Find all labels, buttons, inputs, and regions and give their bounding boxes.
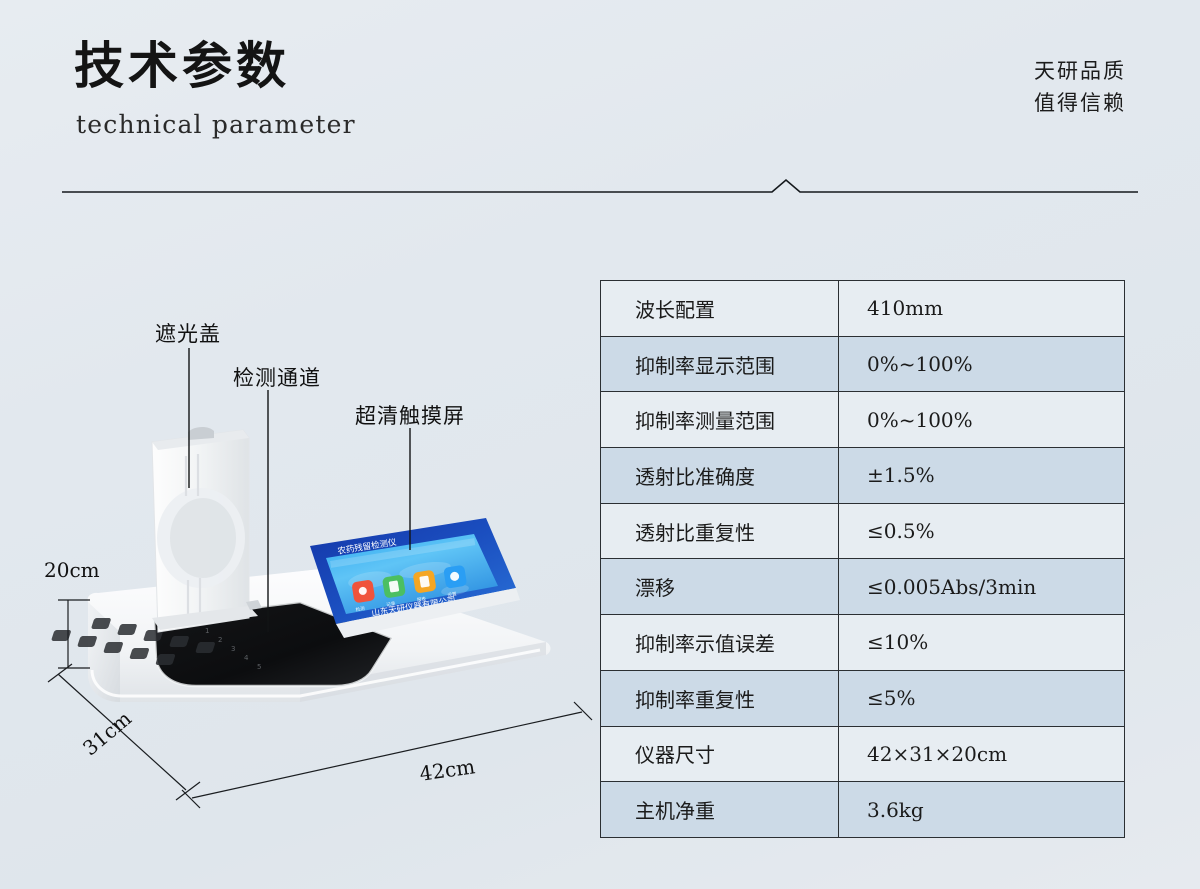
svg-text:1: 1 bbox=[205, 627, 209, 635]
spec-name-cell: 透射比准确度 bbox=[601, 448, 839, 504]
table-row: 漂移≤0.005Abs/3min bbox=[601, 559, 1125, 615]
table-row: 抑制率重复性≤5% bbox=[601, 670, 1125, 726]
spec-name-cell: 主机净重 bbox=[601, 782, 839, 838]
brand-slogan-line2: 值得信赖 bbox=[1034, 88, 1126, 120]
dim-width-line bbox=[192, 712, 582, 798]
spec-table: 波长配置410mm抑制率显示范围0%~100%抑制率测量范围0%~100%透射比… bbox=[600, 280, 1125, 838]
dimension-label-height: 20cm bbox=[44, 558, 100, 582]
spec-value-cell: 42×31×20cm bbox=[839, 726, 1125, 782]
spec-value-cell: 0%~100% bbox=[839, 336, 1125, 392]
cover-emboss-inner bbox=[170, 498, 236, 578]
table-row: 抑制率测量范围0%~100% bbox=[601, 392, 1125, 448]
spec-name-cell: 抑制率测量范围 bbox=[601, 392, 839, 448]
table-row: 抑制率示值误差≤10% bbox=[601, 615, 1125, 671]
svg-text:5: 5 bbox=[257, 663, 261, 671]
brand-slogan-line1: 天研品质 bbox=[1034, 56, 1126, 88]
spec-value-cell: 3.6kg bbox=[839, 782, 1125, 838]
spec-value-cell: 0%~100% bbox=[839, 392, 1125, 448]
product-illustration: 1 2 3 4 5 bbox=[0, 250, 600, 850]
spec-value-cell: ±1.5% bbox=[839, 448, 1125, 504]
table-row: 透射比准确度±1.5% bbox=[601, 448, 1125, 504]
spec-value-cell: ≤0.005Abs/3min bbox=[839, 559, 1125, 615]
spec-value-cell: ≤0.5% bbox=[839, 503, 1125, 559]
spec-name-cell: 抑制率重复性 bbox=[601, 670, 839, 726]
spec-value-cell: 410mm bbox=[839, 281, 1125, 337]
spec-name-cell: 波长配置 bbox=[601, 281, 839, 337]
table-row: 波长配置410mm bbox=[601, 281, 1125, 337]
table-row: 主机净重3.6kg bbox=[601, 782, 1125, 838]
page-title: 技术参数 bbox=[74, 40, 290, 93]
callout-label-channel: 检测通道 bbox=[233, 362, 321, 392]
spec-name-cell: 抑制率示值误差 bbox=[601, 615, 839, 671]
callout-label-screen: 超清触摸屏 bbox=[355, 400, 465, 430]
spec-value-cell: ≤10% bbox=[839, 615, 1125, 671]
spec-table-body: 波长配置410mm抑制率显示范围0%~100%抑制率测量范围0%~100%透射比… bbox=[601, 281, 1125, 838]
table-row: 透射比重复性≤0.5% bbox=[601, 503, 1125, 559]
svg-text:2: 2 bbox=[218, 636, 222, 644]
spec-value-cell: ≤5% bbox=[839, 670, 1125, 726]
brand-slogan: 天研品质 值得信赖 bbox=[1034, 56, 1126, 119]
callout-label-cover: 遮光盖 bbox=[155, 318, 221, 348]
table-row: 仪器尺寸42×31×20cm bbox=[601, 726, 1125, 782]
spec-name-cell: 漂移 bbox=[601, 559, 839, 615]
cover-handle-notch bbox=[188, 427, 214, 440]
touchscreen-assembly: 农药残留检测仪 检测 bbox=[310, 518, 520, 638]
svg-text:3: 3 bbox=[231, 645, 235, 653]
chevron-up-divider-icon bbox=[62, 180, 1138, 192]
spec-name-cell: 仪器尺寸 bbox=[601, 726, 839, 782]
spec-name-cell: 抑制率显示范围 bbox=[601, 336, 839, 392]
table-row: 抑制率显示范围0%~100% bbox=[601, 336, 1125, 392]
spec-name-cell: 透射比重复性 bbox=[601, 503, 839, 559]
page-subtitle: technical parameter bbox=[76, 110, 356, 139]
svg-text:4: 4 bbox=[244, 654, 249, 662]
technical-parameter-page: 技术参数 technical parameter 天研品质 值得信赖 bbox=[0, 0, 1200, 889]
header-divider bbox=[62, 178, 1138, 194]
